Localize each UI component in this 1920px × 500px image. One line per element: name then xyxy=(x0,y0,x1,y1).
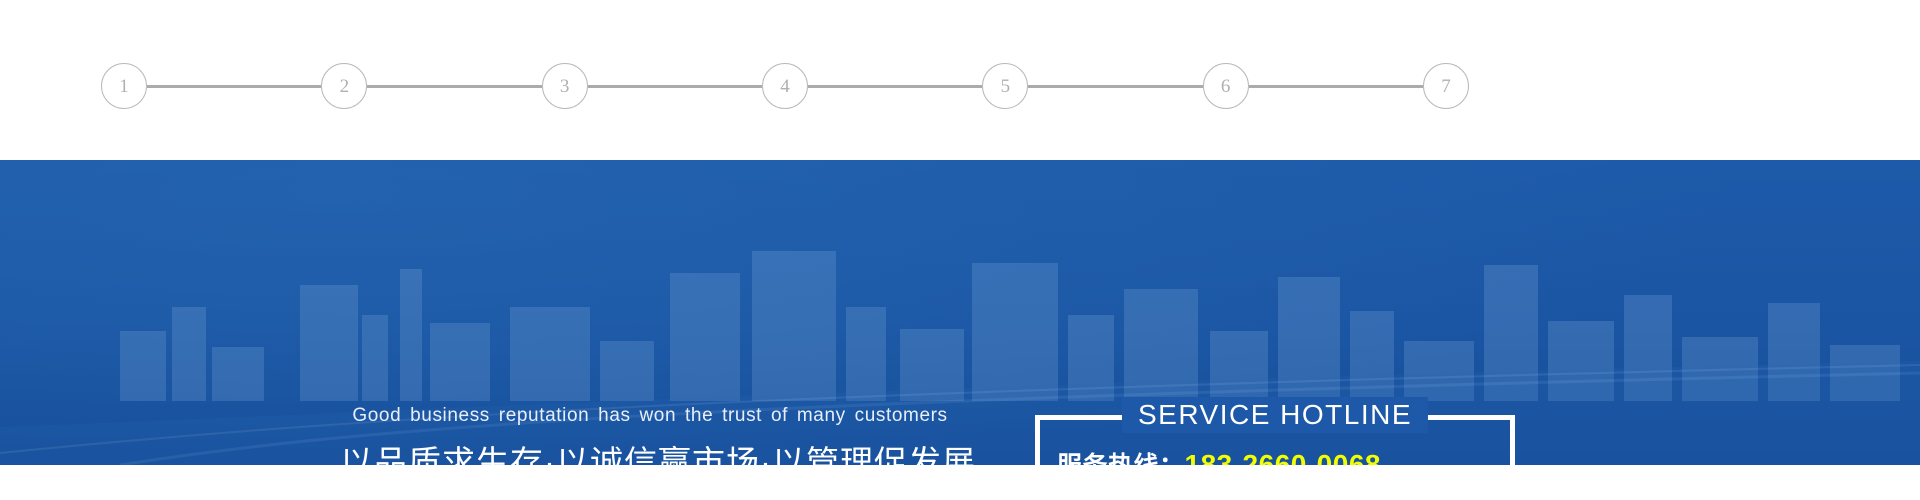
step-node-5[interactable]: 5 xyxy=(982,63,1028,109)
slogan-chinese-main: 以品质求生存·以诚信赢市场·以管理促发展 xyxy=(340,442,960,465)
hotline-phone-primary[interactable]: 183-2660-0068 xyxy=(1185,445,1381,465)
step-node-7[interactable]: 7 xyxy=(1423,63,1469,109)
step-node-6[interactable]: 6 xyxy=(1203,63,1249,109)
step-connector-4 xyxy=(808,85,982,88)
slogan-block: Good business reputation has won the tru… xyxy=(340,404,960,465)
hotline-number-list: 服务热线： 183-2660-0068 0551-63749777 xyxy=(1035,445,1515,465)
slogan-english: Good business reputation has won the tru… xyxy=(340,404,960,429)
step-connector-1 xyxy=(147,85,321,88)
step-indicator: 1234567 xyxy=(0,0,1920,160)
step-node-2[interactable]: 2 xyxy=(321,63,367,109)
step-connector-2 xyxy=(367,85,541,88)
step-connector-3 xyxy=(588,85,762,88)
hotline-label: 服务热线： xyxy=(1057,448,1185,465)
promo-banner: Good business reputation has won the tru… xyxy=(0,160,1920,465)
page-root: 1234567 xyxy=(0,0,1920,500)
step-node-1[interactable]: 1 xyxy=(101,63,147,109)
step-connector-5 xyxy=(1028,85,1202,88)
step-node-4[interactable]: 4 xyxy=(762,63,808,109)
step-connector-6 xyxy=(1249,85,1423,88)
hotline-title: SERVICE HOTLINE xyxy=(1122,397,1428,433)
step-node-3[interactable]: 3 xyxy=(542,63,588,109)
hotline-row-primary: 服务热线： 183-2660-0068 xyxy=(1057,445,1493,465)
service-hotline-box: SERVICE HOTLINE 服务热线： 183-2660-0068 0551… xyxy=(1035,415,1515,465)
